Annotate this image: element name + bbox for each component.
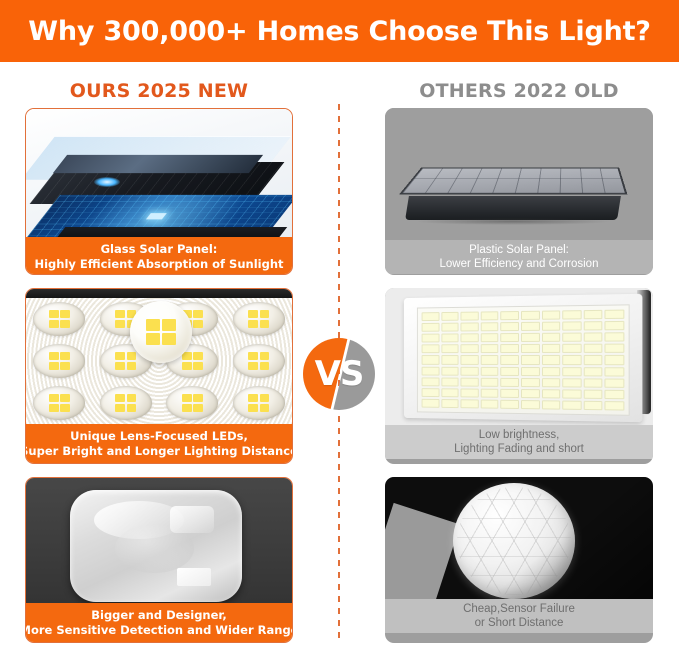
card-others-solar-panel: Plastic Solar Panel: Lower Efficiency an…	[385, 108, 653, 275]
led-chip	[248, 352, 269, 370]
image-lens-focused-led-array	[26, 289, 292, 424]
led-lens	[159, 382, 226, 424]
light-hotspot	[94, 177, 120, 187]
card-ours-pir-sensor: Bigger and Designer, More Sensitive Dete…	[25, 477, 293, 643]
comparison-infographic: Why 300,000+ Homes Choose This Light? OU…	[0, 0, 679, 648]
led-chip	[182, 394, 203, 412]
pir-lens-facet	[115, 524, 194, 573]
vs-badge: VS	[303, 338, 375, 410]
caption-line-2: More Sensitive Detection and Wider Range	[25, 623, 293, 637]
led-lens	[93, 382, 160, 424]
caption-others-solar-panel: Plastic Solar Panel: Lower Efficiency an…	[385, 240, 653, 274]
plastic-panel-body	[405, 196, 621, 220]
pir-lens-rectangular	[70, 490, 242, 602]
pir-lens-highlight	[177, 568, 211, 586]
led-chip	[115, 352, 136, 370]
image-round-faceted-pir-dome	[385, 477, 653, 599]
card-ours-solar-panel: Glass Solar Panel: Highly Efficient Abso…	[25, 108, 293, 275]
image-dense-smd-led-panel	[385, 288, 653, 425]
column-heading-others: OTHERS 2022 OLD	[385, 78, 653, 104]
card-others-led-panel: Low brightness, Lighting Fading and shor…	[385, 288, 653, 464]
led-lens	[226, 298, 293, 340]
caption-line-1: Plastic Solar Panel:	[469, 243, 569, 257]
led-lens	[26, 382, 93, 424]
caption-line-1: Low brightness,	[479, 428, 560, 442]
led-lens	[226, 382, 293, 424]
smd-led-grid	[417, 304, 630, 415]
caption-others-led-panel: Low brightness, Lighting Fading and shor…	[385, 425, 653, 459]
caption-line-2: or Short Distance	[475, 616, 564, 630]
led-chip	[49, 310, 70, 328]
caption-ours-led-array: Unique Lens-Focused LEDs, Super Bright a…	[26, 424, 292, 463]
led-panel-housing	[404, 294, 643, 422]
column-heading-ours: OURS 2025 NEW	[25, 78, 293, 104]
image-exploded-glass-solar-panel	[26, 109, 292, 237]
card-others-pir-sensor: Cheap,Sensor Failure or Short Distance	[385, 477, 653, 643]
caption-line-1: Cheap,Sensor Failure	[463, 602, 575, 616]
led-lens	[226, 340, 293, 382]
vs-badge-label: VS	[303, 338, 375, 410]
caption-line-1: Unique Lens-Focused LEDs,	[70, 429, 248, 443]
led-chip	[248, 310, 269, 328]
caption-others-pir-sensor: Cheap,Sensor Failure or Short Distance	[385, 599, 653, 633]
caption-line-2: Super Bright and Longer Lighting Distanc…	[25, 444, 293, 458]
caption-ours-pir-sensor: Bigger and Designer, More Sensitive Dete…	[26, 603, 292, 642]
caption-line-2: Lower Efficiency and Corrosion	[440, 257, 599, 271]
led-lens	[26, 340, 93, 382]
led-chip	[49, 352, 70, 370]
caption-line-2: Lighting Fading and short	[454, 442, 584, 456]
header-banner: Why 300,000+ Homes Choose This Light?	[0, 0, 679, 62]
panel-shadow	[415, 218, 611, 225]
led-chip	[182, 352, 203, 370]
caption-line-1: Glass Solar Panel:	[101, 242, 218, 256]
caption-line-2: Highly Efficient Absorption of Sunlight	[34, 257, 283, 271]
housing-top-bar	[26, 289, 292, 298]
caption-line-1: Bigger and Designer,	[91, 608, 227, 622]
pir-dome-lens	[453, 483, 575, 599]
led-chip	[248, 394, 269, 412]
led-chip	[115, 394, 136, 412]
glass-sheen	[53, 155, 263, 173]
magnified-lens-bubble	[130, 301, 192, 363]
led-lens	[26, 298, 93, 340]
image-plastic-solar-panel	[385, 108, 653, 240]
card-ours-led-array: Unique Lens-Focused LEDs, Super Bright a…	[25, 288, 293, 464]
caption-ours-solar-panel: Glass Solar Panel: Highly Efficient Abso…	[26, 237, 292, 275]
led-chip	[49, 394, 70, 412]
base-edge	[53, 227, 288, 237]
image-large-rectangular-pir-sensor	[26, 478, 292, 603]
plastic-panel-face	[399, 167, 628, 194]
led-chip-magnified	[146, 319, 176, 345]
page-title: Why 300,000+ Homes Choose This Light?	[28, 16, 651, 47]
